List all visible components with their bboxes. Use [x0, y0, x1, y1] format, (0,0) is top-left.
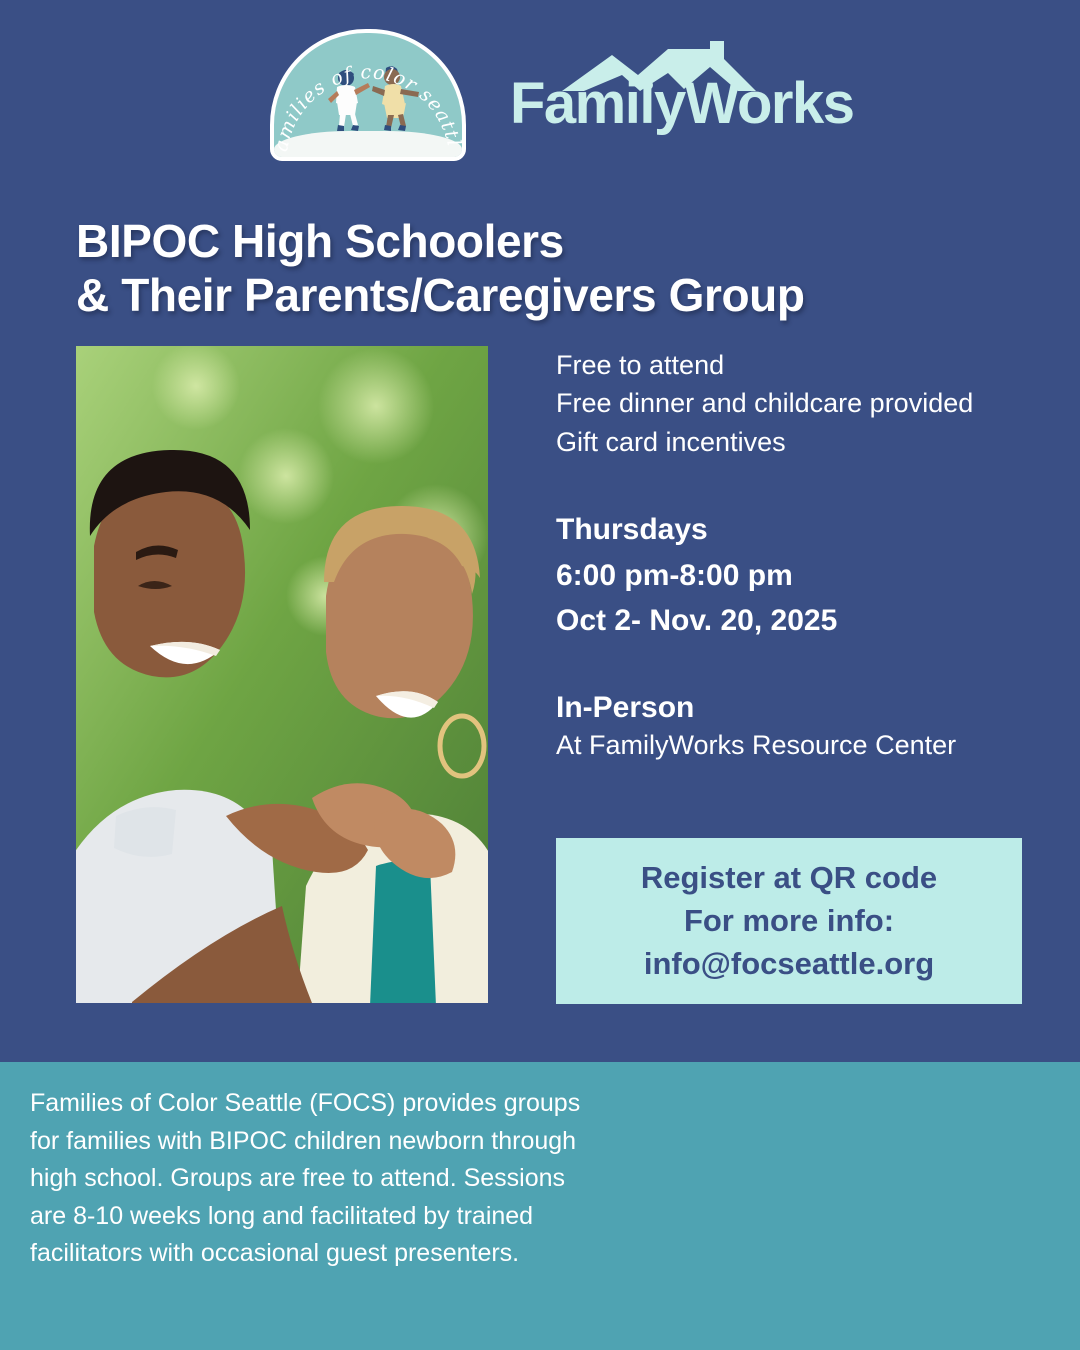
familyworks-logo: FamilyWorks — [510, 39, 810, 151]
schedule-day: Thursdays — [556, 507, 1026, 553]
location-venue: At FamilyWorks Resource Center — [556, 727, 1026, 763]
event-details: Free to attend Free dinner and childcare… — [556, 346, 1026, 763]
familyworks-wordmark: FamilyWorks — [510, 75, 810, 133]
headline-line-1: BIPOC High Schoolers — [76, 214, 996, 268]
cta-line-more-info: For more info: — [684, 901, 894, 941]
perks-list: Free to attend Free dinner and childcare… — [556, 346, 1026, 461]
location-block: In-Person At FamilyWorks Resource Center — [556, 688, 1026, 763]
perk-item: Free dinner and childcare provided — [556, 384, 1026, 422]
photo-illustration — [76, 346, 488, 1003]
page-title: BIPOC High Schoolers & Their Parents/Car… — [76, 214, 996, 323]
focs-curved-text: families of color seattle — [270, 31, 466, 163]
flyer-canvas: families of color seattle FamilyWorks BI… — [0, 0, 1080, 1350]
schedule-dates: Oct 2- Nov. 20, 2025 — [556, 598, 1026, 644]
register-callout-box[interactable]: Register at QR code For more info: info@… — [556, 838, 1022, 1004]
cta-email[interactable]: info@focseattle.org — [644, 944, 934, 984]
focs-logo-text: families of color seattle — [270, 31, 465, 153]
families-of-color-seattle-logo: families of color seattle — [270, 29, 466, 161]
schedule-time: 6:00 pm-8:00 pm — [556, 553, 1026, 599]
headline-line-2: & Their Parents/Caregivers Group — [76, 268, 996, 322]
svg-text:families of color seattle: families of color seattle — [270, 31, 465, 153]
cta-line-register: Register at QR code — [641, 858, 937, 898]
footer-description: Families of Color Seattle (FOCS) provide… — [30, 1085, 590, 1273]
location-mode: In-Person — [556, 688, 1026, 727]
perk-item: Gift card incentives — [556, 423, 1026, 461]
perk-item: Free to attend — [556, 346, 1026, 384]
event-photo — [76, 346, 488, 1003]
header-logos: families of color seattle FamilyWorks — [0, 0, 1080, 190]
footer-band: Families of Color Seattle (FOCS) provide… — [0, 1062, 1080, 1350]
schedule-block: Thursdays 6:00 pm-8:00 pm Oct 2- Nov. 20… — [556, 507, 1026, 644]
